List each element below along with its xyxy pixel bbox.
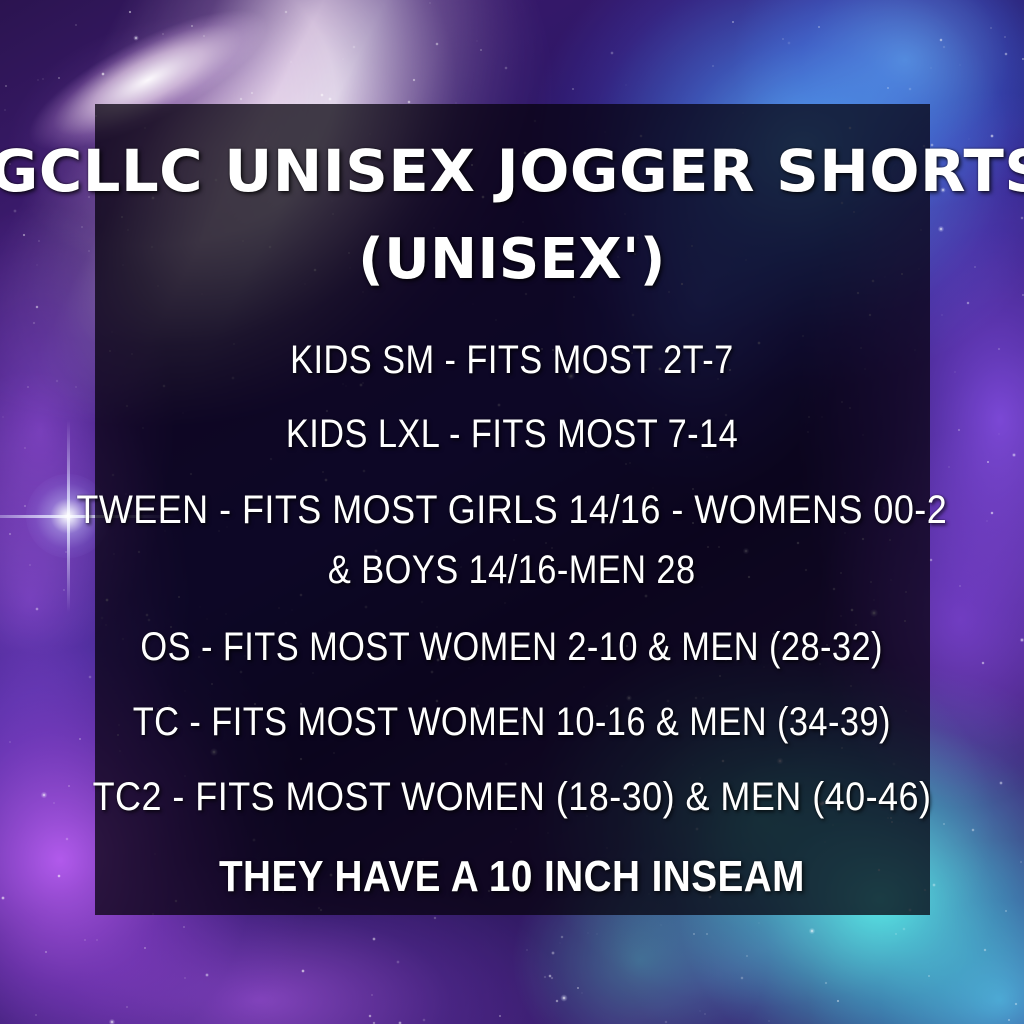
size-row-kids-sm: KIDS SM - FITS MOST 2T-7 [0,340,1024,380]
inseam-note: THEY HAVE A 10 INCH INSEAM [0,855,1024,899]
size-row-os: OS - FITS MOST WOMEN 2-10 & MEN (28-32) [0,627,1024,667]
size-row-tween-line2: & BOYS 14/16-MEN 28 [0,550,1024,590]
size-chart-graphic: GCLLC UNISEX JOGGER SHORTS (UNISEX') KID… [0,0,1024,1024]
size-row-label: TC2 - FITS MOST WOMEN (18-30) & MEN (40-… [93,777,932,817]
size-chart-content: GCLLC UNISEX JOGGER SHORTS (UNISEX') KID… [0,0,1024,1024]
size-row-label: TC - FITS MOST WOMEN 10-16 & MEN (34-39) [133,702,891,742]
size-row-label: TWEEN - FITS MOST GIRLS 14/16 - WOMENS 0… [77,490,948,530]
size-row-tween-line1: TWEEN - FITS MOST GIRLS 14/16 - WOMENS 0… [0,490,1024,530]
size-row-label: KIDS LXL - FITS MOST 7-14 [286,414,738,454]
page-title: GCLLC UNISEX JOGGER SHORTS [0,142,1024,200]
inseam-note-label: THEY HAVE A 10 INCH INSEAM [219,855,805,899]
size-row-tc: TC - FITS MOST WOMEN 10-16 & MEN (34-39) [0,702,1024,742]
size-row-label: KIDS SM - FITS MOST 2T-7 [290,340,734,380]
size-row-kids-lxl: KIDS LXL - FITS MOST 7-14 [0,414,1024,454]
page-subtitle: (UNISEX') [0,232,1024,288]
size-row-label: OS - FITS MOST WOMEN 2-10 & MEN (28-32) [141,627,883,667]
size-row-tc2: TC2 - FITS MOST WOMEN (18-30) & MEN (40-… [0,777,1024,817]
size-row-label: & BOYS 14/16-MEN 28 [328,550,696,590]
